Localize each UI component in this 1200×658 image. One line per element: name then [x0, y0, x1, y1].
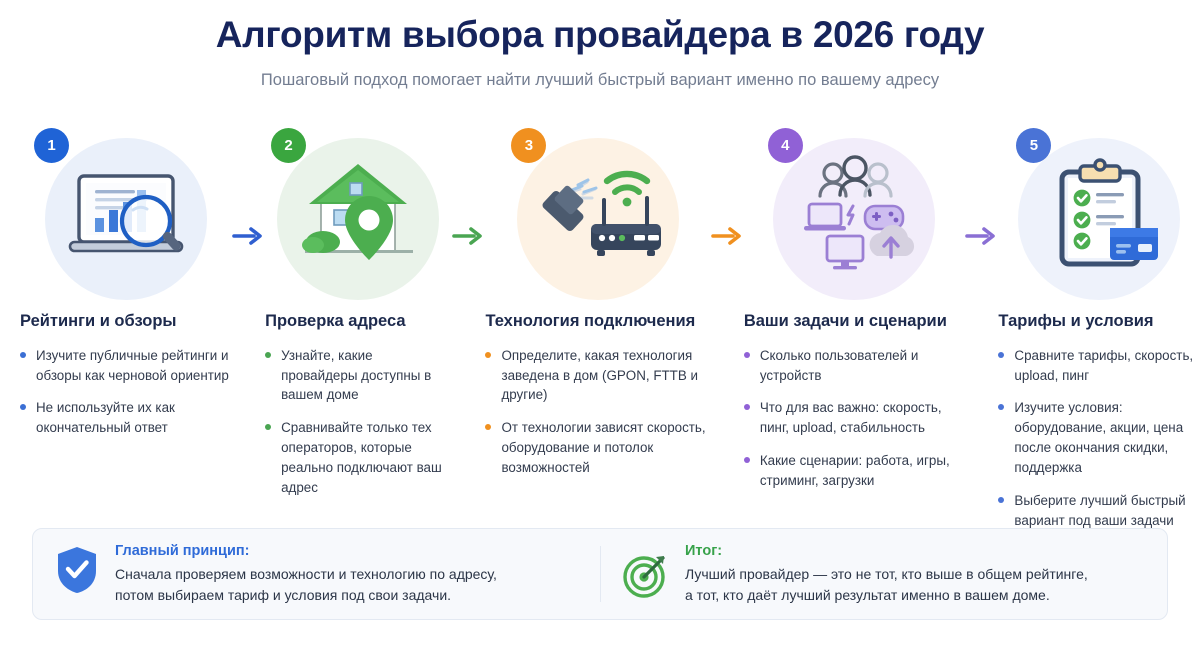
step-4-title: Ваши задачи и сценарии [744, 312, 965, 332]
list-item: Сравнивайте только тех операторов, котор… [265, 418, 451, 497]
step-4-illustration: 4 [744, 128, 965, 306]
step-2: 2 Проверка адреса Узнайте, какие пр [265, 128, 451, 511]
list-item: Выберите лучший быстрый вариант под ваши… [998, 491, 1200, 531]
summary-result-label: Итог: [685, 543, 1088, 559]
summary-panel: Главный принцип: Сначала проверяем возмо… [32, 528, 1168, 620]
clipboard-checklist-card-icon [1018, 138, 1180, 300]
summary-principle-line1: Сначала проверяем возможности и технолог… [115, 564, 497, 585]
fiber-cable-router-wifi-icon [517, 138, 679, 300]
list-item: Сколько пользователей и устройств [744, 346, 965, 386]
list-item: От технологии зависят скорость, оборудов… [485, 418, 709, 477]
arrow-2-to-3 [451, 226, 485, 246]
step-3: 3 [485, 128, 709, 491]
list-item: Что для вас важно: скорость, пинг, uploa… [744, 398, 965, 438]
step-4-number: 4 [781, 137, 789, 154]
arrow-right-icon [232, 226, 264, 246]
step-2-number-badge: 2 [271, 128, 306, 163]
step-4-bullets: Сколько пользователей и устройств Что дл… [744, 346, 965, 491]
header: Алгоритм выбора провайдера в 2026 году П… [0, 0, 1200, 90]
arrow-right-icon [965, 226, 997, 246]
step-4-number-badge: 4 [768, 128, 803, 163]
list-item: Не используйте их как окончательный отве… [20, 398, 231, 438]
arrow-right-icon [711, 226, 743, 246]
shield-check-icon [55, 545, 99, 595]
step-5-illustration: 5 [998, 128, 1200, 306]
step-1-number-badge: 1 [34, 128, 69, 163]
list-item: Изучите условия: оборудование, акции, це… [998, 398, 1200, 477]
step-1-number: 1 [47, 137, 55, 154]
page-subtitle: Пошаговый подход помогает найти лучший б… [0, 71, 1200, 90]
step-5-title: Тарифы и условия [998, 312, 1200, 332]
arrow-right-icon [452, 226, 484, 246]
laptop-chart-magnifier-icon [45, 138, 207, 300]
step-1-title: Рейтинги и обзоры [20, 312, 231, 332]
summary-result-text: Итог: Лучший провайдер — это не тот, кто… [685, 543, 1088, 606]
list-item: Определите, какая технология заведена в … [485, 346, 709, 405]
page-title: Алгоритм выбора провайдера в 2026 году [0, 14, 1200, 57]
list-item: Узнайте, какие провайдеры доступны в ваш… [265, 346, 451, 405]
target-arrow-icon [623, 552, 669, 598]
summary-principle-label: Главный принцип: [115, 543, 497, 559]
arrow-3-to-4 [710, 226, 744, 246]
step-2-bullets: Узнайте, какие провайдеры доступны в ваш… [265, 346, 451, 498]
summary-principle-line2: потом выбираем тариф и условия под свои … [115, 585, 497, 606]
summary-principle-text: Главный принцип: Сначала проверяем возмо… [115, 543, 497, 606]
users-devices-icon [773, 138, 935, 300]
step-1-bullets: Изучите публичные рейтинги и обзоры как … [20, 346, 231, 438]
house-location-pin-icon [277, 138, 439, 300]
step-5-bullets: Сравните тарифы, скорость, upload, пинг … [998, 346, 1200, 531]
infographic-page: Алгоритм выбора провайдера в 2026 году П… [0, 0, 1200, 658]
arrow-1-to-2 [231, 226, 265, 246]
step-3-number: 3 [525, 137, 533, 154]
step-2-illustration: 2 [265, 128, 451, 306]
arrow-4-to-5 [964, 226, 998, 246]
list-item: Сравните тарифы, скорость, upload, пинг [998, 346, 1200, 386]
step-2-number: 2 [284, 137, 292, 154]
step-1: 1 Рейтинги и обзо [20, 128, 231, 451]
step-4: 4 [744, 128, 965, 504]
list-item: Какие сценарии: работа, игры, стриминг, … [744, 451, 965, 491]
steps-row: 1 Рейтинги и обзо [0, 128, 1200, 543]
list-item: Изучите публичные рейтинги и обзоры как … [20, 346, 231, 386]
step-5: 5 [998, 128, 1200, 543]
step-3-title: Технология подключения [485, 312, 709, 332]
step-5-number: 5 [1030, 137, 1038, 154]
step-2-title: Проверка адреса [265, 312, 451, 332]
step-3-bullets: Определите, какая технология заведена в … [485, 346, 709, 478]
summary-result: Итог: Лучший провайдер — это не тот, кто… [600, 546, 1167, 602]
step-3-illustration: 3 [485, 128, 709, 306]
summary-result-line2: а тот, кто даёт лучший результат именно … [685, 585, 1088, 606]
summary-principle: Главный принцип: Сначала проверяем возмо… [33, 543, 600, 606]
step-1-illustration: 1 [20, 128, 231, 306]
summary-result-line1: Лучший провайдер — это не тот, кто выше … [685, 564, 1088, 585]
